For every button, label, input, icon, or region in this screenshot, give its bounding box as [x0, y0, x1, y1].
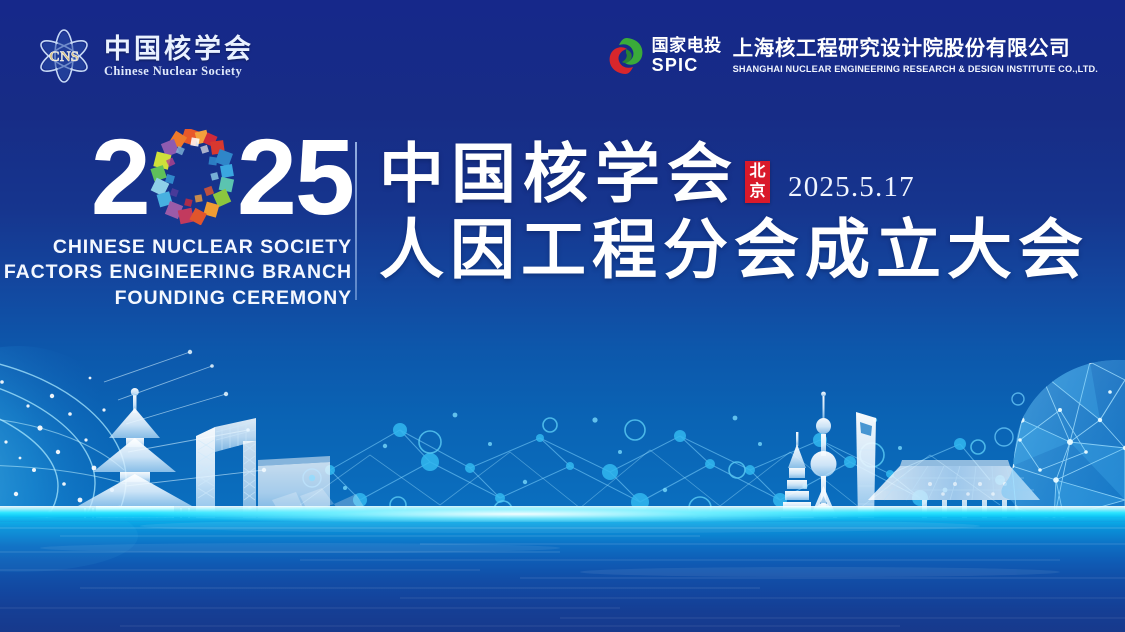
year-zero-mosaic-icon	[147, 129, 239, 225]
cns-wordmark: 中国核学会 Chinese Nuclear Society	[104, 33, 254, 79]
english-title-line-1: CHINESE NUCLEAR SOCIETY	[0, 235, 352, 260]
cns-name-en: Chinese Nuclear Society	[104, 65, 254, 79]
shanghai-world-financial-center	[856, 412, 876, 522]
low-poly-human-head	[1001, 360, 1125, 583]
spic-institute-logo[interactable]: 国家电投 SPIC 上海核工程研究设计院股份有限公司 SHANGHAI NUCL…	[607, 36, 1098, 76]
svg-text:CNS: CNS	[49, 49, 79, 65]
year-digit-suffix: 25	[237, 133, 353, 222]
english-title-line-2: HUMAN FACTORS ENGINEERING BRANCH	[0, 260, 352, 285]
year-digit-prefix: 2	[91, 133, 149, 222]
event-date: 2025.5.17	[788, 171, 915, 204]
horizon-glow	[0, 506, 1125, 522]
spic-name-cn: 国家电投	[652, 37, 722, 55]
jinmao-tower	[781, 432, 813, 522]
institute-name: 上海核工程研究设计院股份有限公司 SHANGHAI NUCLEAR ENGINE…	[731, 38, 1098, 74]
temple-of-heaven	[78, 388, 192, 526]
chinese-title-line-2: 人因工程分会成立大会	[379, 216, 1125, 286]
cns-name-cn: 中国核学会	[104, 35, 254, 63]
english-title-line-3: FOUNDING CEREMONY	[0, 286, 352, 311]
spic-wordmark: 国家电投 SPIC	[652, 37, 722, 75]
year-2025: 2	[91, 128, 353, 226]
spic-mark-icon	[607, 36, 645, 76]
year-and-english-column: 2	[0, 128, 355, 311]
cctv-headquarters	[196, 418, 256, 519]
left-slab-building	[258, 456, 330, 519]
particle-globe	[0, 346, 266, 622]
cns-atom-icon: CNS	[33, 27, 95, 85]
conference-banner: CNS 中国核学会 Chinese Nuclear Society 国家电投 S…	[0, 0, 1125, 632]
spic-name-en: SPIC	[652, 56, 722, 75]
english-title: CHINESE NUCLEAR SOCIETY HUMAN FACTORS EN…	[0, 235, 355, 311]
logo-bar: CNS 中国核学会 Chinese Nuclear Society 国家电投 S…	[0, 0, 1125, 108]
ground-reflection	[0, 518, 1125, 632]
china-art-museum	[868, 460, 1040, 522]
chinese-title-column: 中国核学会 北京 2025.5.17 人因工程分会成立大会	[357, 128, 1125, 286]
chinese-title-line-1: 中国核学会	[379, 143, 739, 208]
oriental-pearl-tower	[806, 392, 842, 523]
title-block: 2	[0, 128, 1125, 318]
institute-name-cn: 上海核工程研究设计院股份有限公司	[733, 38, 1098, 61]
cns-logo[interactable]: CNS 中国核学会 Chinese Nuclear Society	[33, 27, 254, 85]
beijing-seal-stamp: 北京	[745, 161, 770, 203]
chinese-title-row-1: 中国核学会 北京 2025.5.17	[379, 132, 1125, 208]
institute-name-en: SHANGHAI NUCLEAR ENGINEERING RESEARCH & …	[733, 64, 1098, 74]
